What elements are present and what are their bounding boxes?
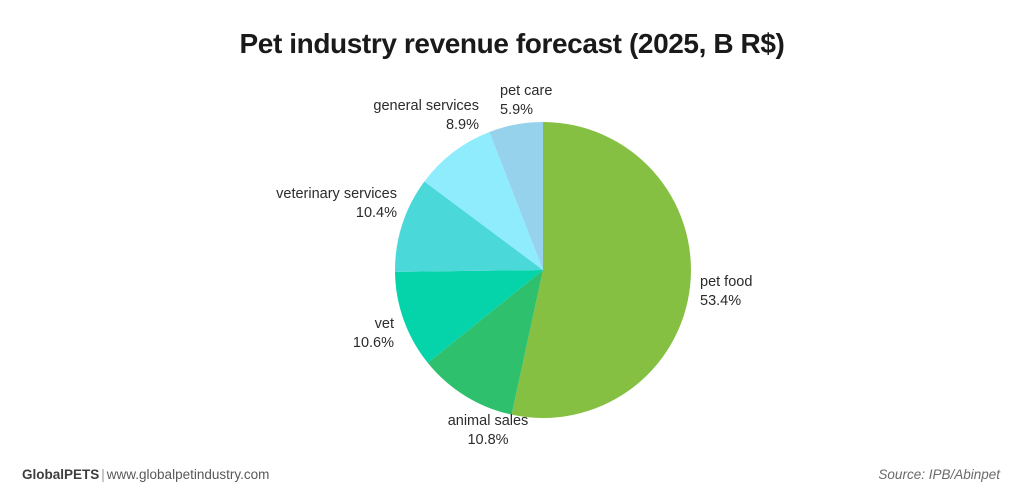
pie-chart-plot-area: pet food53.4%animal sales10.8%vet10.6%ve… [0, 0, 1024, 455]
footer-brand: GlobalPETS [22, 467, 99, 482]
footer: GlobalPETS|www.globalpetindustry.com Sou… [0, 456, 1024, 500]
pie-label-pet-care: pet care5.9% [500, 82, 552, 120]
pie-label-name: pet care [500, 82, 552, 101]
pie-chart-svg [0, 0, 1024, 455]
footer-website: www.globalpetindustry.com [107, 467, 270, 482]
pie-label-percent: 8.9% [373, 116, 479, 135]
chart-card: Pet industry revenue forecast (2025, B R… [0, 0, 1024, 500]
pie-label-name: veterinary services [276, 185, 397, 204]
pie-label-general-services: general services8.9% [373, 97, 479, 135]
pie-label-veterinary-services: veterinary services10.4% [276, 185, 397, 223]
pie-label-name: animal sales [448, 412, 529, 431]
pie-label-vet: vet10.6% [353, 315, 394, 353]
pie-label-percent: 10.4% [276, 204, 397, 223]
footer-separator: | [99, 467, 107, 482]
footer-source: Source: IPB/Abinpet [878, 467, 1000, 482]
pie-label-percent: 10.8% [448, 431, 529, 450]
pie-label-animal-sales: animal sales10.8% [448, 412, 529, 450]
pie-label-name: pet food [700, 273, 752, 292]
pie-label-pet-food: pet food53.4% [700, 273, 752, 311]
pie-label-name: general services [373, 97, 479, 116]
pie-label-percent: 53.4% [700, 292, 752, 311]
footer-attribution: GlobalPETS|www.globalpetindustry.com [22, 467, 269, 482]
pie-label-name: vet [353, 315, 394, 334]
pie-label-percent: 10.6% [353, 334, 394, 353]
pie-label-percent: 5.9% [500, 101, 552, 120]
